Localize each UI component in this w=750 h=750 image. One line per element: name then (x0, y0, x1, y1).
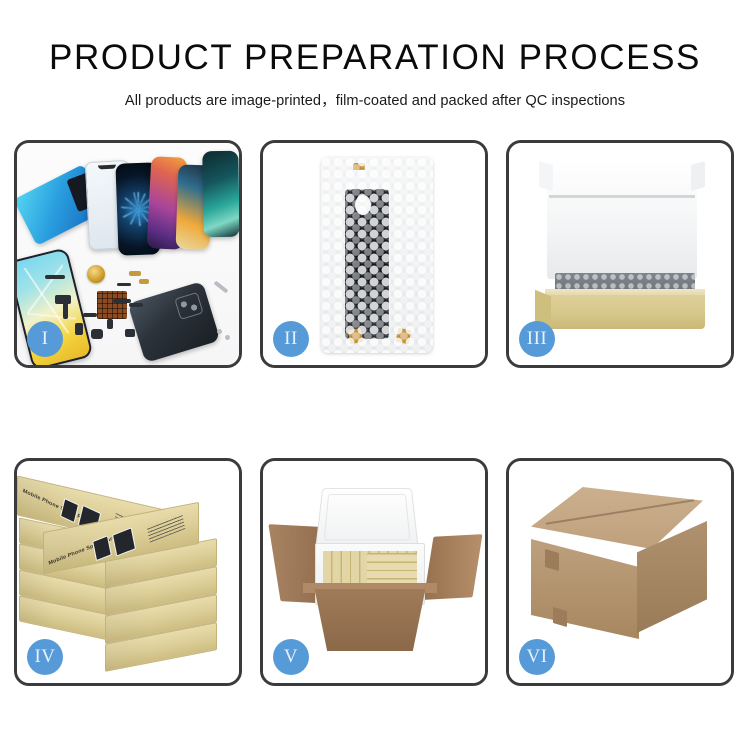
process-step-6: VI (506, 458, 734, 686)
carton-tape-patch (553, 607, 567, 627)
small-part (213, 280, 228, 293)
carton-front-panel (307, 589, 433, 651)
small-part (139, 279, 149, 284)
foam-fold-line (549, 195, 695, 198)
process-step-3: III (506, 140, 734, 368)
kraft-box-front-panel (545, 295, 705, 329)
step-badge-2: II (273, 321, 309, 357)
foam-box-lid (315, 488, 418, 548)
copper-coil-part (87, 265, 105, 283)
small-part (107, 319, 113, 329)
carton-tape-patch (545, 549, 559, 571)
process-steps-grid: I II (14, 140, 736, 696)
step-badge-1: I (27, 321, 63, 357)
small-part (129, 303, 143, 307)
small-part (113, 299, 131, 303)
page-header: PRODUCT PREPARATION PROCESS All products… (0, 0, 750, 110)
step-badge-3: III (519, 321, 555, 357)
screw-part (225, 335, 230, 340)
small-part (75, 323, 83, 335)
phone-back-housing (128, 281, 221, 363)
small-part (129, 271, 141, 276)
small-part (83, 313, 97, 317)
bubble-texture-highlight (321, 157, 433, 353)
small-part (45, 275, 65, 279)
small-part (91, 329, 103, 339)
process-step-4: Mobile Phone Spare Parts Mobile Phone Sp… (14, 458, 242, 686)
process-step-2: II (260, 140, 488, 368)
product-preparation-infographic: PRODUCT PREPARATION PROCESS All products… (0, 0, 750, 750)
step-badge-5: V (273, 639, 309, 675)
process-step-5: V (260, 458, 488, 686)
logic-board-chip (97, 291, 127, 319)
bubble-wrap-bag (321, 157, 433, 353)
step-badge-6: VI (519, 639, 555, 675)
step-badge-4: IV (27, 639, 63, 675)
small-part (125, 329, 135, 337)
small-part (63, 303, 68, 319)
small-part (117, 283, 131, 286)
screw-part (217, 329, 222, 334)
white-foam-lid (547, 161, 697, 279)
green-wave-phone-screen (202, 151, 239, 238)
process-step-1: I (14, 140, 242, 368)
page-subtitle: All products are image-printed，film-coat… (0, 89, 750, 110)
page-title: PRODUCT PREPARATION PROCESS (0, 40, 750, 75)
